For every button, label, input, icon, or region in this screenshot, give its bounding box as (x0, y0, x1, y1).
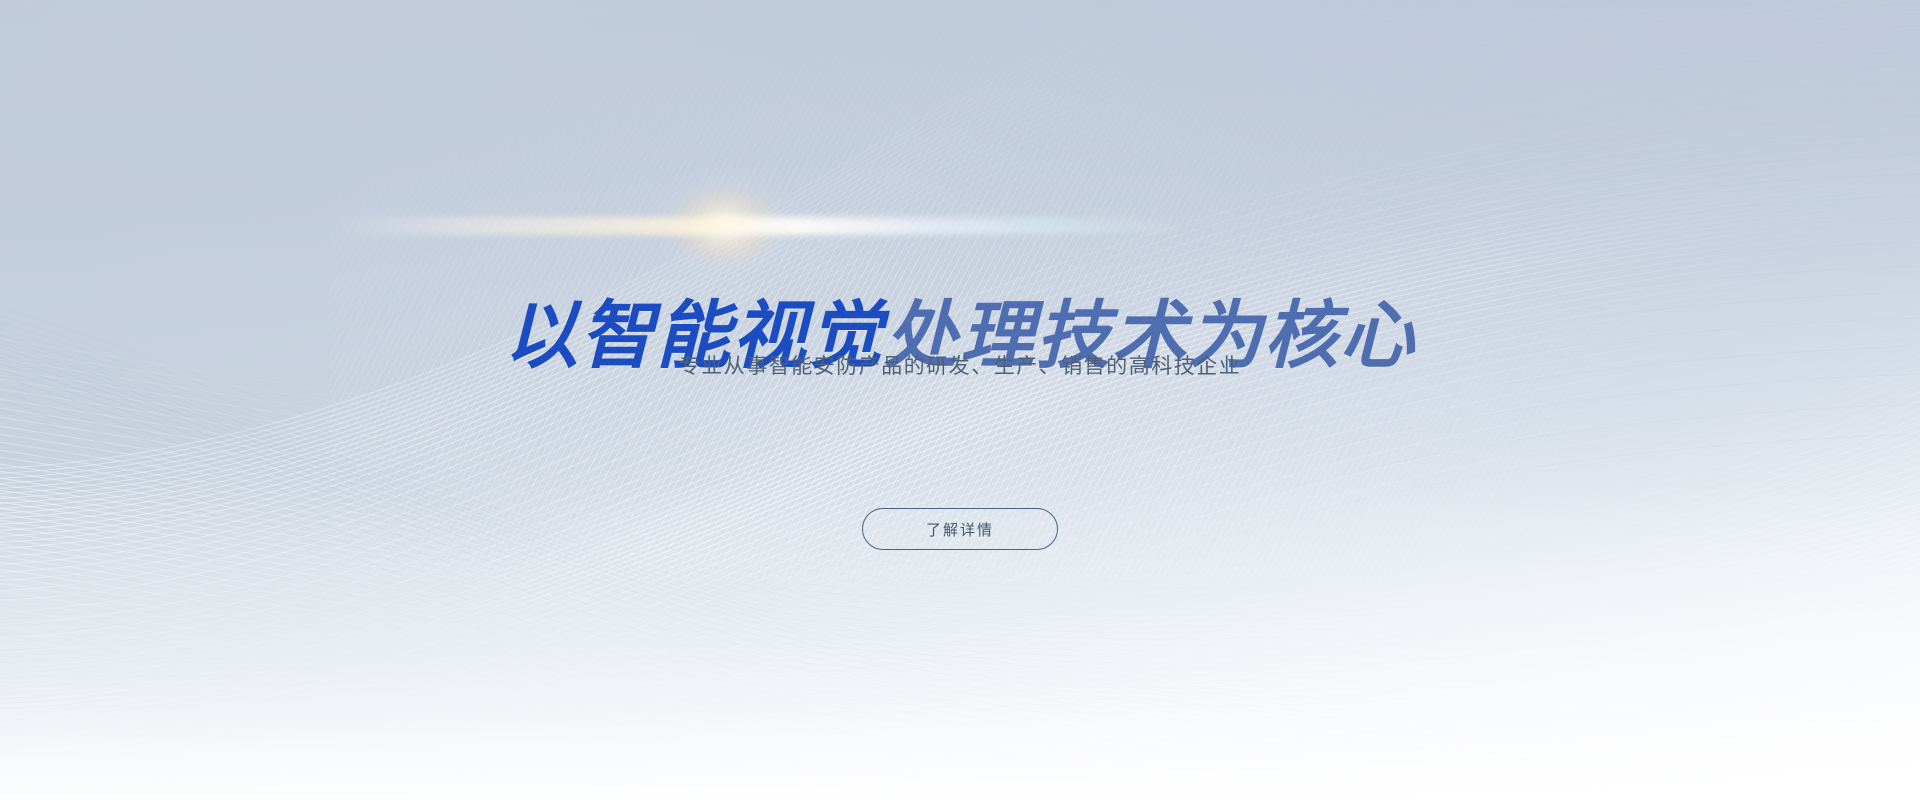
lens-flare-core (640, 150, 810, 300)
hero-banner: 以智能视觉处理技术为核心 专业从事智能安防产品的研发、生产、销售的高科技企业 了… (0, 0, 1920, 800)
lens-flare-tail (790, 222, 1210, 232)
hero-subtitle: 专业从事智能安防产品的研发、生产、销售的高科技企业 (0, 351, 1920, 383)
diagonal-hairline-texture (330, 0, 1920, 580)
background-tint-overlay (0, 0, 1920, 800)
hero-content: 以智能视觉处理技术为核心 专业从事智能安防产品的研发、生产、销售的高科技企业 了… (0, 0, 1920, 800)
lens-flare-ghost (1000, 215, 1090, 229)
hero-cta-container: 了解详情 (0, 508, 1920, 550)
lens-flare-streak (330, 217, 1190, 235)
learn-more-button[interactable]: 了解详情 (862, 508, 1058, 550)
wave-background-illustration (0, 0, 1920, 800)
